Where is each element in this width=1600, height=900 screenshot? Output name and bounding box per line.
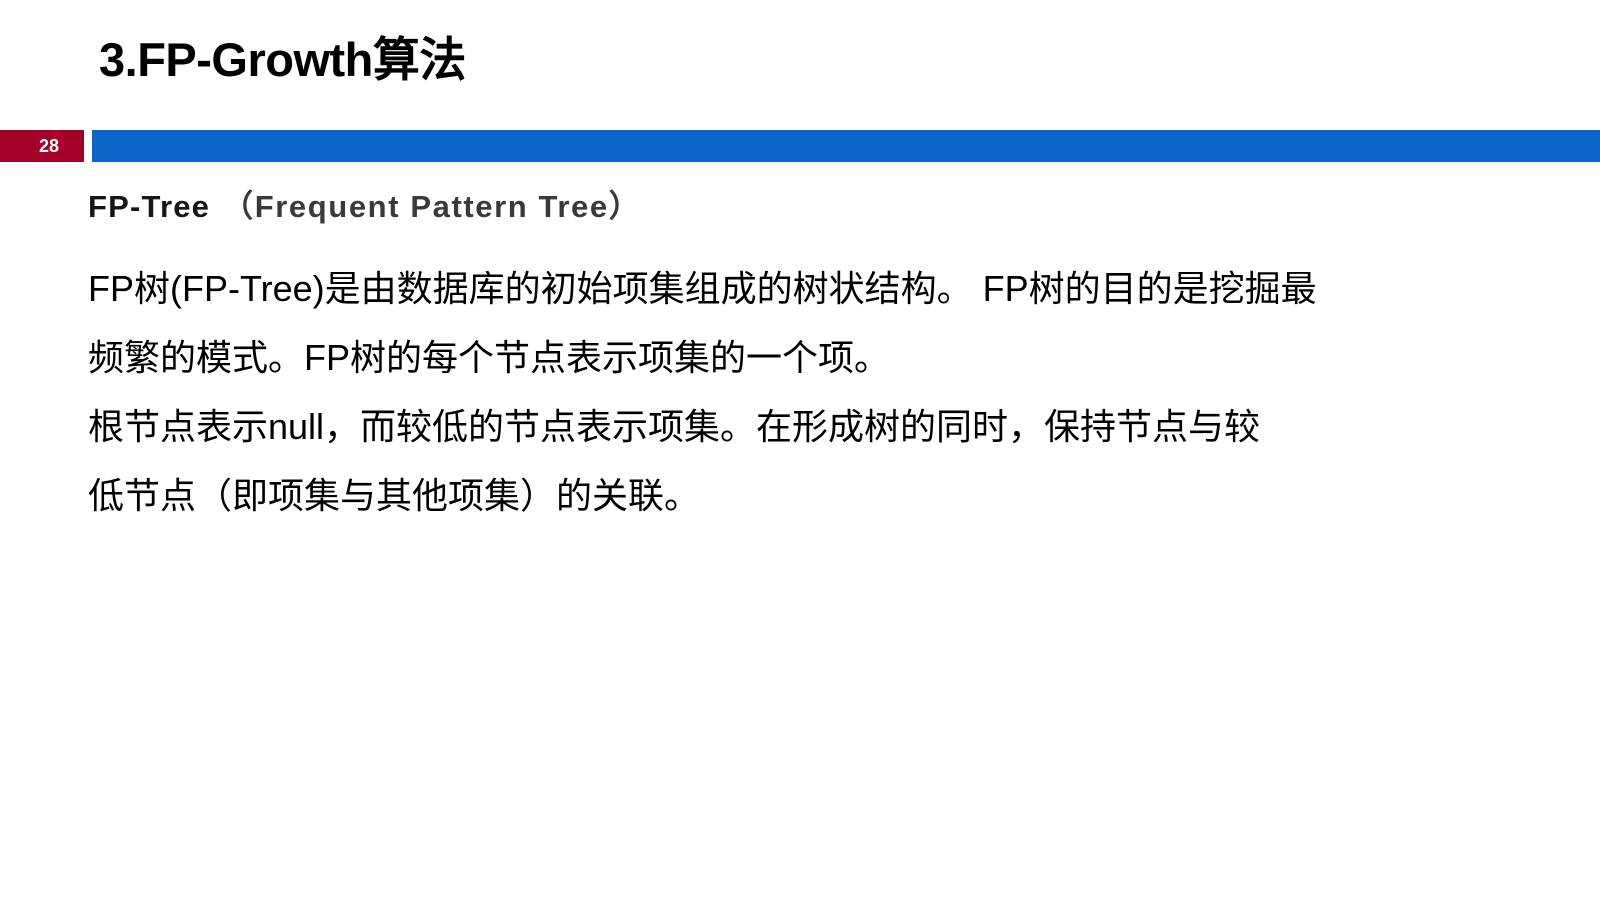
slide-content: FP-Tree（Frequent Pattern Tree） FP树(FP-Tr… (88, 186, 1508, 530)
section-heading-parenthetical: （Frequent Pattern Tree） (222, 189, 641, 224)
section-heading: FP-Tree（Frequent Pattern Tree） (88, 186, 1508, 228)
slide: 3.FP-Growth算法 28 FP-Tree（Frequent Patter… (0, 0, 1600, 900)
page-number-label: 28 (0, 130, 84, 162)
page-title: 3.FP-Growth算法 (99, 33, 466, 87)
page-number-badge: 28 (0, 130, 84, 162)
section-heading-main: FP-Tree (88, 189, 210, 224)
body-line: FP树(FP-Tree)是由数据库的初始项集组成的树状结构。 FP树的目的是挖掘… (88, 254, 1508, 323)
body-line: 根节点表示null，而较低的节点表示项集。在形成树的同时，保持节点与较 (88, 392, 1508, 461)
body-line: 低节点（即项集与其他项集）的关联。 (88, 461, 1508, 530)
body-paragraph: FP树(FP-Tree)是由数据库的初始项集组成的树状结构。 FP树的目的是挖掘… (88, 254, 1508, 530)
accent-rule: 28 (0, 130, 1600, 162)
accent-bar-blue (92, 130, 1600, 162)
body-line: 频繁的模式。FP树的每个节点表示项集的一个项。 (88, 323, 1508, 392)
